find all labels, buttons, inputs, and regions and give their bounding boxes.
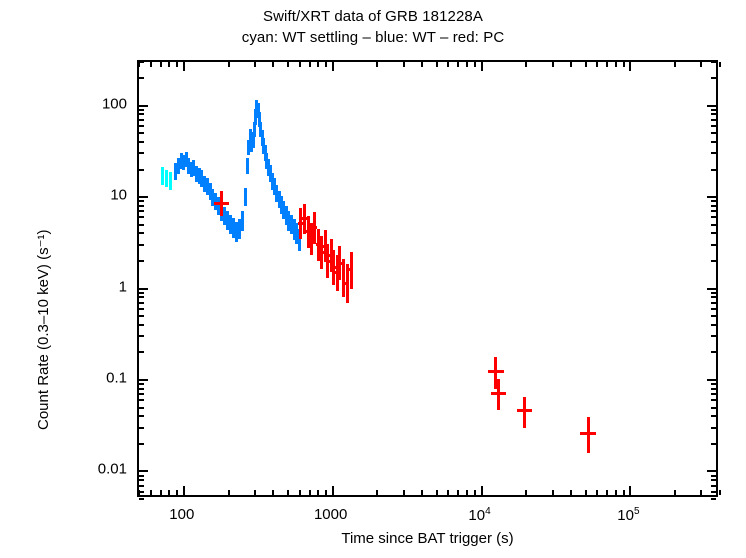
y-minor-tick [139, 260, 144, 262]
x-minor-tick-top [287, 62, 289, 67]
y-minor-tick-right [711, 479, 716, 481]
y-minor-tick [139, 315, 144, 317]
y-error-bar [161, 167, 164, 185]
x-minor-tick-top [447, 62, 449, 67]
x-minor-tick-top [403, 62, 405, 67]
x-minor-tick [474, 490, 476, 495]
y-minor-tick-right [711, 61, 716, 63]
y-minor-tick-right [711, 393, 716, 395]
x-minor-tick [376, 490, 378, 495]
y-major-tick-right [707, 288, 716, 290]
x-major-tick [481, 486, 483, 495]
x-minor-tick [674, 490, 676, 495]
y-minor-tick [139, 296, 144, 298]
y-error-bar [244, 188, 247, 206]
y-minor-tick [139, 244, 144, 246]
y-minor-tick-right [711, 388, 716, 390]
y-minor-tick [139, 302, 144, 304]
y-minor-tick-right [711, 224, 716, 226]
x-tick-label: 104 [468, 506, 490, 524]
y-minor-tick-right [711, 427, 716, 429]
y-minor-tick [139, 399, 144, 401]
y-minor-tick [139, 77, 144, 79]
y-minor-tick [139, 125, 144, 127]
x-minor-tick-top [160, 62, 162, 67]
y-minor-tick [139, 415, 144, 417]
x-major-tick-top [332, 62, 334, 71]
y-minor-tick-right [711, 119, 716, 121]
y-minor-tick-right [711, 475, 716, 477]
x-error-bar [491, 392, 505, 395]
y-minor-tick [139, 308, 144, 310]
x-minor-tick [272, 490, 274, 495]
x-minor-tick [615, 490, 617, 495]
x-major-tick [183, 486, 185, 495]
y-minor-tick-right [711, 152, 716, 154]
x-minor-tick-top [615, 62, 617, 67]
y-minor-tick [139, 427, 144, 429]
y-minor-tick-right [711, 491, 716, 493]
x-minor-tick-top [176, 62, 178, 67]
x-tick-label: 1000 [314, 506, 347, 523]
xrt-lightcurve-figure: Swift/XRT data of GRB 181228A cyan: WT s… [0, 0, 746, 558]
x-minor-tick [606, 490, 608, 495]
x-minor-tick [447, 490, 449, 495]
y-minor-tick [139, 224, 144, 226]
y-minor-tick [139, 61, 144, 63]
y-minor-tick-right [711, 335, 716, 337]
y-tick-label: 0.1 [106, 370, 127, 387]
x-minor-tick [299, 490, 301, 495]
x-minor-tick-top [466, 62, 468, 67]
y-minor-tick-right [711, 232, 716, 234]
y-minor-tick-right [711, 415, 716, 417]
y-minor-tick-right [711, 498, 716, 500]
y-error-bar [241, 211, 244, 230]
y-minor-tick [139, 113, 144, 115]
y-minor-tick [139, 393, 144, 395]
y-minor-tick-right [711, 244, 716, 246]
y-minor-tick-right [711, 315, 716, 317]
y-minor-tick [139, 232, 144, 234]
x-minor-tick [309, 490, 311, 495]
y-minor-tick [139, 292, 144, 294]
y-major-tick [139, 470, 148, 472]
x-minor-tick [552, 490, 554, 495]
x-minor-tick-top [299, 62, 301, 67]
y-minor-tick [139, 335, 144, 337]
x-minor-tick [623, 490, 625, 495]
y-error-bar [497, 379, 500, 410]
chart-title: Swift/XRT data of GRB 181228A [0, 8, 746, 25]
x-minor-tick [436, 490, 438, 495]
y-tick-label: 100 [102, 95, 127, 112]
x-minor-tick [403, 490, 405, 495]
y-major-tick [139, 379, 148, 381]
y-minor-tick-right [711, 216, 716, 218]
y-major-tick [139, 105, 148, 107]
x-minor-tick-top [674, 62, 676, 67]
x-minor-tick [317, 490, 319, 495]
data-layer [139, 62, 716, 495]
y-minor-tick-right [711, 132, 716, 134]
x-minor-tick-top [436, 62, 438, 67]
y-minor-tick-right [711, 443, 716, 445]
y-minor-tick [139, 109, 144, 111]
x-minor-tick-top [309, 62, 311, 67]
y-minor-tick [139, 485, 144, 487]
y-axis-title: Count Rate (0.3–10 keV) (s⁻¹) [34, 229, 52, 430]
x-minor-tick [325, 490, 327, 495]
y-minor-tick-right [711, 296, 716, 298]
y-error-bar [169, 172, 172, 190]
y-minor-tick [139, 388, 144, 390]
y-minor-tick [139, 119, 144, 121]
x-minor-tick-top [623, 62, 625, 67]
x-minor-tick [150, 490, 152, 495]
x-major-tick-top [481, 62, 483, 71]
y-minor-tick-right [711, 141, 716, 143]
x-minor-tick [228, 490, 230, 495]
x-minor-tick [421, 490, 423, 495]
y-minor-tick [139, 407, 144, 409]
x-minor-tick-top [457, 62, 459, 67]
x-error-bar [214, 202, 229, 205]
x-minor-tick-top [474, 62, 476, 67]
x-minor-tick [525, 490, 527, 495]
x-axis-title: Time since BAT trigger (s) [137, 530, 718, 547]
y-minor-tick [139, 383, 144, 385]
y-minor-tick [139, 351, 144, 353]
x-minor-tick-top [228, 62, 230, 67]
y-error-bar [246, 158, 249, 174]
y-major-tick [139, 288, 148, 290]
x-minor-tick [596, 490, 598, 495]
x-minor-tick [176, 490, 178, 495]
y-minor-tick-right [711, 302, 716, 304]
x-minor-tick [457, 490, 459, 495]
y-major-tick [139, 196, 148, 198]
x-minor-tick [570, 490, 572, 495]
plot-area [137, 60, 718, 497]
y-minor-tick [139, 200, 144, 202]
y-minor-tick-right [711, 200, 716, 202]
y-minor-tick [139, 169, 144, 171]
x-minor-tick-top [421, 62, 423, 67]
y-minor-tick-right [711, 205, 716, 207]
y-minor-tick [139, 491, 144, 493]
x-error-bar [345, 282, 348, 285]
x-error-bar [517, 409, 532, 412]
y-minor-tick-right [711, 407, 716, 409]
y-minor-tick-right [711, 485, 716, 487]
y-minor-tick [139, 132, 144, 134]
x-error-bar [488, 370, 504, 373]
chart-subtitle: cyan: WT settling – blue: WT – red: PC [0, 29, 746, 46]
x-minor-tick-top [272, 62, 274, 67]
y-minor-tick-right [711, 169, 716, 171]
y-tick-label: 1 [119, 278, 127, 295]
y-minor-tick-right [711, 125, 716, 127]
x-tick-label: 100 [169, 506, 194, 523]
y-minor-tick [139, 475, 144, 477]
y-minor-tick [139, 152, 144, 154]
y-tick-label: 0.01 [98, 461, 127, 478]
x-minor-tick-top [168, 62, 170, 67]
x-minor-tick [160, 490, 162, 495]
x-minor-tick [466, 490, 468, 495]
y-minor-tick [139, 498, 144, 500]
x-error-bar [342, 277, 345, 280]
x-major-tick [332, 486, 334, 495]
x-minor-tick [585, 490, 587, 495]
y-minor-tick-right [711, 210, 716, 212]
y-minor-tick-right [711, 308, 716, 310]
y-minor-tick-right [711, 77, 716, 79]
x-minor-tick-top [585, 62, 587, 67]
y-minor-tick-right [711, 324, 716, 326]
x-minor-tick [700, 490, 702, 495]
y-error-bar [587, 417, 590, 452]
x-minor-tick [719, 490, 721, 495]
x-minor-tick-top [596, 62, 598, 67]
x-error-bar [349, 268, 352, 271]
y-minor-tick-right [711, 113, 716, 115]
x-minor-tick-top [552, 62, 554, 67]
x-minor-tick-top [606, 62, 608, 67]
y-major-tick-right [707, 379, 716, 381]
x-minor-tick [254, 490, 256, 495]
x-minor-tick-top [150, 62, 152, 67]
x-minor-tick [168, 490, 170, 495]
x-minor-tick-top [254, 62, 256, 67]
x-minor-tick-top [719, 62, 721, 67]
y-error-bar [165, 170, 168, 187]
x-minor-tick-top [525, 62, 527, 67]
y-minor-tick [139, 324, 144, 326]
y-minor-tick [139, 210, 144, 212]
y-minor-tick-right [711, 383, 716, 385]
x-error-bar [580, 432, 596, 435]
y-tick-label: 10 [110, 187, 127, 204]
y-major-tick-right [707, 196, 716, 198]
y-major-tick-right [707, 470, 716, 472]
x-minor-tick-top [317, 62, 319, 67]
x-tick-label: 105 [617, 506, 639, 524]
y-minor-tick-right [711, 351, 716, 353]
y-minor-tick [139, 443, 144, 445]
y-minor-tick-right [711, 109, 716, 111]
x-major-tick-top [183, 62, 185, 71]
x-major-tick [629, 486, 631, 495]
y-minor-tick-right [711, 292, 716, 294]
y-minor-tick [139, 205, 144, 207]
x-minor-tick-top [570, 62, 572, 67]
x-minor-tick-top [376, 62, 378, 67]
y-minor-tick-right [711, 399, 716, 401]
y-minor-tick [139, 479, 144, 481]
x-minor-tick [287, 490, 289, 495]
y-major-tick-right [707, 105, 716, 107]
y-minor-tick-right [711, 260, 716, 262]
y-minor-tick [139, 216, 144, 218]
x-minor-tick-top [325, 62, 327, 67]
y-minor-tick [139, 141, 144, 143]
x-minor-tick-top [700, 62, 702, 67]
x-major-tick-top [629, 62, 631, 71]
